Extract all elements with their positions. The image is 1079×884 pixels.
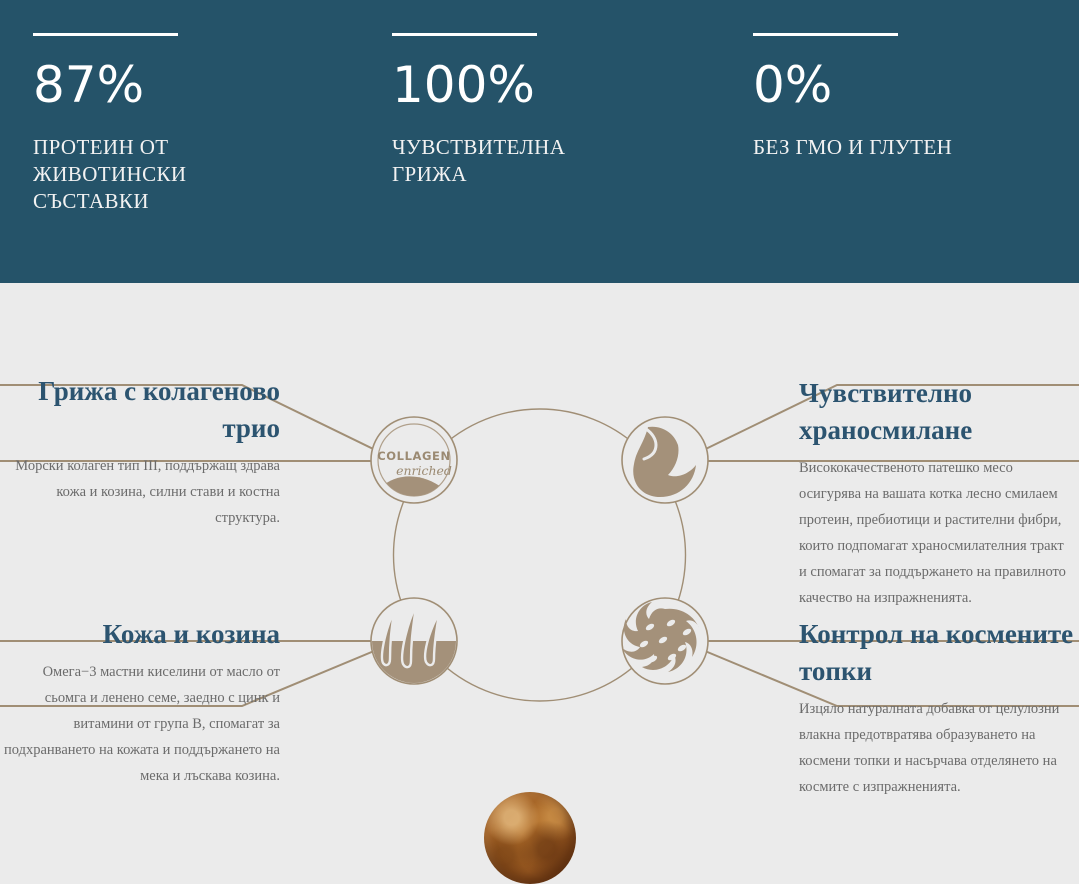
feature-digestion: Чувствително храносмилане Висококачестве… — [799, 375, 1074, 611]
diagram-ring — [394, 409, 686, 701]
stats-band: 87% ПРОТЕИН ОТ ЖИВОТИНСКИ СЪСТАВКИ 100% … — [0, 0, 1079, 283]
feature-collagen: Грижа с колагеново трио Морски колаген т… — [0, 373, 280, 531]
stat-block-sensitive-care: 100% ЧУВСТВИТЕЛНА ГРИЖА — [392, 33, 692, 188]
feature-title: Грижа с колагеново трио — [0, 373, 280, 447]
hairball-icon — [622, 598, 708, 684]
feature-title: Контрол на космените топки — [799, 616, 1074, 690]
hair-follicle-icon — [370, 598, 460, 687]
stat-block-protein: 87% ПРОТЕИН ОТ ЖИВОТИНСКИ СЪСТАВКИ — [33, 33, 333, 215]
feature-title: Чувствително храносмилане — [799, 375, 1074, 449]
feature-body: Морски колаген тип III, поддържащ здрава… — [0, 453, 280, 531]
stat-value: 0% — [753, 58, 1053, 112]
feature-skin-coat: Кожа и козина Омега−3 мастни киселини от… — [0, 616, 280, 789]
feature-diagram-section: COLLAGEN enriched — [0, 283, 1079, 832]
feature-title: Кожа и козина — [0, 616, 280, 653]
stat-divider-rule — [753, 33, 898, 36]
stomach-icon — [622, 417, 708, 503]
stat-label: ЧУВСТВИТЕЛНА ГРИЖА — [392, 134, 692, 188]
stat-divider-rule — [392, 33, 537, 36]
kibble-pellet — [484, 792, 576, 884]
feature-body: Висококачественото патешко месо осигуряв… — [799, 455, 1074, 611]
feature-body: Изцяло натуралната добавка от целулозни … — [799, 696, 1074, 800]
stat-label: БЕЗ ГМО И ГЛУТЕН — [753, 134, 1053, 161]
stat-value: 87% — [33, 58, 333, 112]
feature-body: Омега−3 мастни киселини от масло от сьом… — [0, 659, 280, 789]
feature-hairball: Контрол на космените топки Изцяло натура… — [799, 616, 1074, 800]
svg-text:COLLAGEN: COLLAGEN — [377, 449, 451, 463]
stat-label: ПРОТЕИН ОТ ЖИВОТИНСКИ СЪСТАВКИ — [33, 134, 333, 215]
stat-divider-rule — [33, 33, 178, 36]
stat-value: 100% — [392, 58, 692, 112]
collagen-badge-icon: COLLAGEN enriched — [371, 417, 457, 503]
stat-block-no-gmo-gluten: 0% БЕЗ ГМО И ГЛУТЕН — [753, 33, 1053, 161]
svg-text:enriched: enriched — [396, 463, 452, 478]
